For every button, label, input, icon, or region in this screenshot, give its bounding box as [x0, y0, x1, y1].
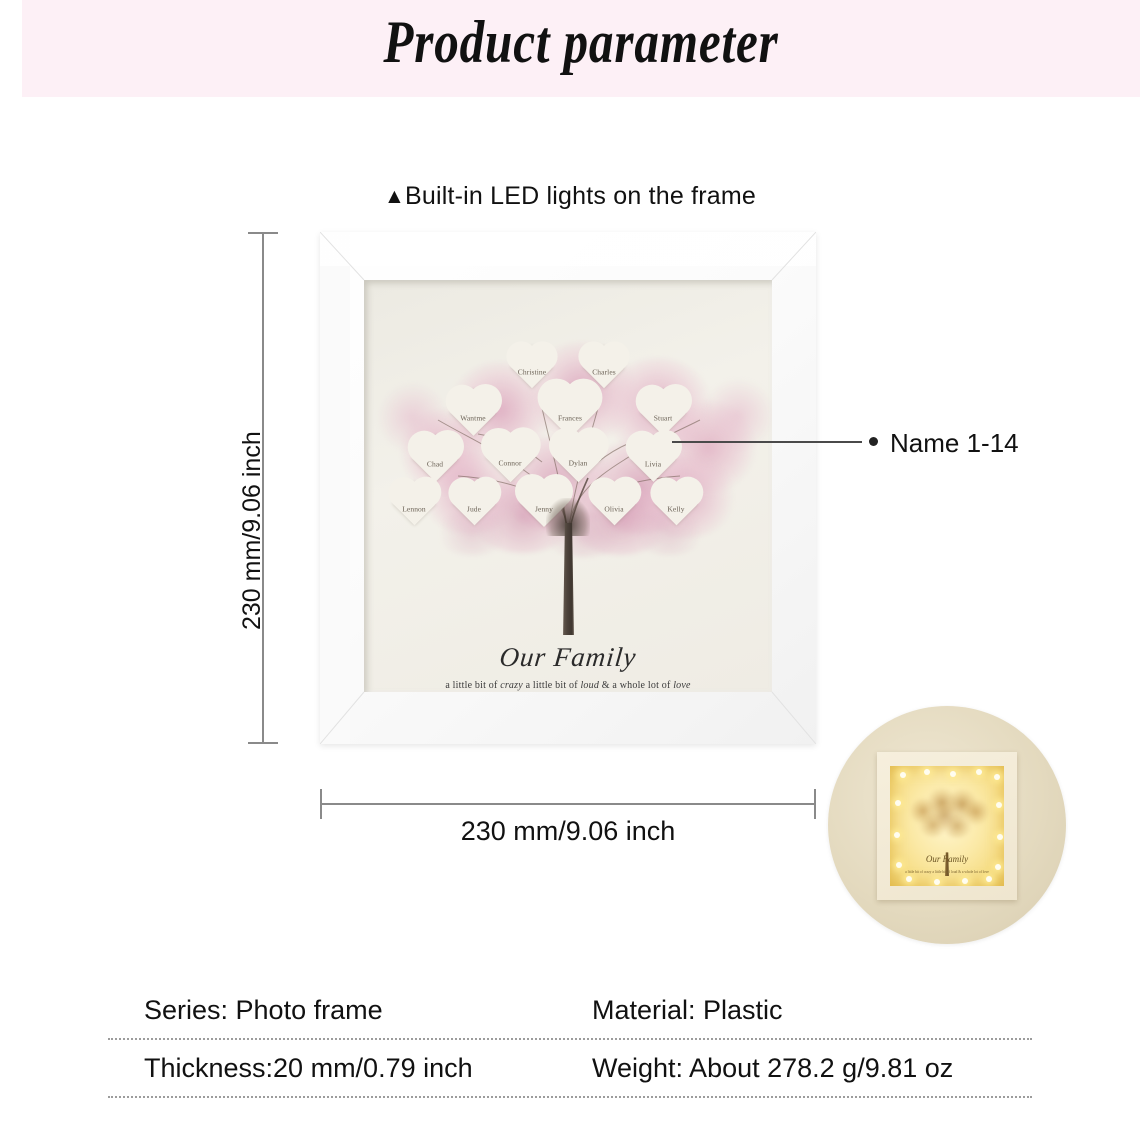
heart-name-label: Dylan	[569, 459, 588, 468]
heart-name-label: Stuart	[654, 414, 673, 423]
frame-artwork-area: Christine Charles Wantme Frances Stuart …	[364, 280, 772, 692]
led-caption: ▲Built-in LED lights on the frame	[0, 182, 1140, 211]
width-dimension-line	[320, 803, 816, 805]
led-inset-frame: Our Family a little bit of crazy a littl…	[877, 752, 1017, 900]
tagline-word-love: love	[673, 680, 690, 691]
callout-label: Name 1-14	[890, 428, 1019, 459]
name-heart[interactable]	[593, 482, 637, 526]
heart-name-label: Jude	[467, 505, 481, 514]
led-inset-tagline: a little bit of crazy a little bit of lo…	[890, 870, 1004, 874]
tagline-word-loud: loud	[580, 680, 599, 691]
our-family-script: Our Family	[364, 642, 772, 673]
callout-leader-line	[672, 441, 862, 443]
led-lit-inset: Our Family a little bit of crazy a littl…	[828, 706, 1066, 944]
spec-thickness: Thickness:20 mm/0.79 inch	[108, 1053, 538, 1084]
led-inset-script: Our Family	[890, 854, 1004, 864]
tagline-part-c: & a whole lot of	[599, 680, 673, 691]
height-dimension-label: 230 mm/9.06 inch	[238, 431, 267, 630]
tagline-part-a: a little bit of	[445, 680, 500, 691]
heart-name-label: Livia	[645, 460, 661, 469]
heart-name-label: Connor	[498, 459, 521, 468]
heart-name-label: Kelly	[667, 505, 684, 514]
name-heart[interactable]	[412, 435, 459, 482]
tagline-word-crazy: crazy	[500, 680, 523, 691]
spec-row: Series: Photo frame Material: Plastic	[108, 982, 1032, 1038]
spec-series: Series: Photo frame	[108, 995, 538, 1026]
spec-material: Material: Plastic	[538, 995, 1032, 1026]
led-inset-tree	[908, 785, 986, 843]
name-heart[interactable]	[655, 482, 699, 526]
heart-name-label: Wantme	[460, 414, 485, 423]
callout-dot-icon	[869, 437, 878, 446]
heart-name-label: Olivia	[604, 505, 623, 514]
heart-name-label: Charles	[592, 368, 616, 377]
page-title: Product parameter	[123, 8, 1040, 77]
led-inset-glass: Our Family a little bit of crazy a littl…	[890, 766, 1004, 886]
tagline-part-b: a little bit of	[523, 680, 581, 691]
led-caption-text: Built-in LED lights on the frame	[405, 182, 756, 210]
width-dimension-label: 230 mm/9.06 inch	[320, 816, 816, 847]
spec-row: Thickness:20 mm/0.79 inch Weight: About …	[108, 1040, 1032, 1096]
heart-name-label: Christine	[518, 368, 546, 377]
name-heart[interactable]	[630, 435, 677, 482]
product-photo-frame: Christine Charles Wantme Frances Stuart …	[320, 232, 816, 744]
spec-weight: Weight: About 278.2 g/9.81 oz	[538, 1053, 1032, 1084]
heart-name-label: Chad	[427, 460, 443, 469]
header-band: Product parameter	[22, 0, 1140, 97]
artwork-tagline: a little bit of crazy a little bit of lo…	[364, 680, 772, 691]
heart-name-label: Lennon	[402, 505, 426, 514]
spec-table: Series: Photo frame Material: Plastic Th…	[108, 982, 1032, 1098]
name-heart[interactable]	[453, 482, 497, 526]
spec-divider	[108, 1096, 1032, 1098]
triangle-marker-icon: ▲	[384, 185, 405, 208]
heart-name-label: Frances	[558, 414, 582, 423]
